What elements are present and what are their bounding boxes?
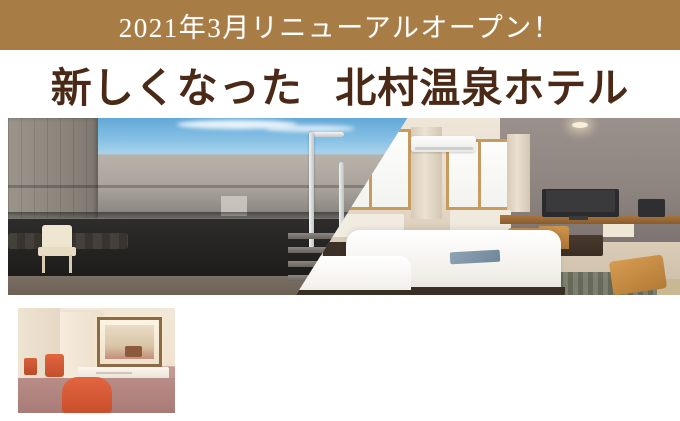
feature-section: 女性に嬉しい 多くの女性のお客様に利用していただけるよう 女性専用の休憩室・メイ… (0, 298, 680, 421)
storage-box (603, 224, 634, 236)
photo-makeup-room (18, 308, 175, 413)
curtain-right (507, 134, 530, 212)
chair-leg-left (42, 255, 45, 273)
television (542, 189, 619, 217)
cloud-shape-secondary (265, 125, 355, 132)
kettle (638, 199, 665, 217)
page-title-part1: 新しくなった (51, 65, 303, 111)
promo-page: 2021年3月リニューアルオープン！ 新しくなった 北村温泉ホテル (0, 0, 680, 421)
chair-back (42, 225, 72, 249)
chair-leg-right (69, 255, 72, 273)
bath-wall-seam (8, 185, 410, 188)
window-mullion (478, 142, 481, 207)
bed-frame (296, 290, 411, 295)
vanity-chair-main (62, 377, 112, 413)
plastic-chair (38, 225, 76, 273)
lighted-mirror (97, 317, 163, 366)
handrail-top (309, 132, 344, 137)
photo-band (0, 118, 680, 295)
page-title: 新しくなった 北村温泉ホテル (0, 52, 680, 116)
page-title-text: 新しくなった 北村温泉ホテル (51, 54, 630, 114)
tv-stand (569, 216, 588, 220)
banner-text: 2021年3月リニューアルオープン！ (119, 6, 562, 45)
page-title-part2: 北村温泉ホテル (335, 65, 629, 111)
air-conditioner (411, 136, 476, 152)
ceiling-light (572, 122, 588, 128)
vanity-chair-side (45, 354, 64, 377)
mirror-reflection (105, 325, 154, 360)
announcement-banner: 2021年3月リニューアルオープン！ (0, 0, 680, 50)
floor-chair-c (609, 254, 667, 295)
bath-side-wall (8, 118, 98, 218)
vanity-chair-far (24, 358, 37, 375)
